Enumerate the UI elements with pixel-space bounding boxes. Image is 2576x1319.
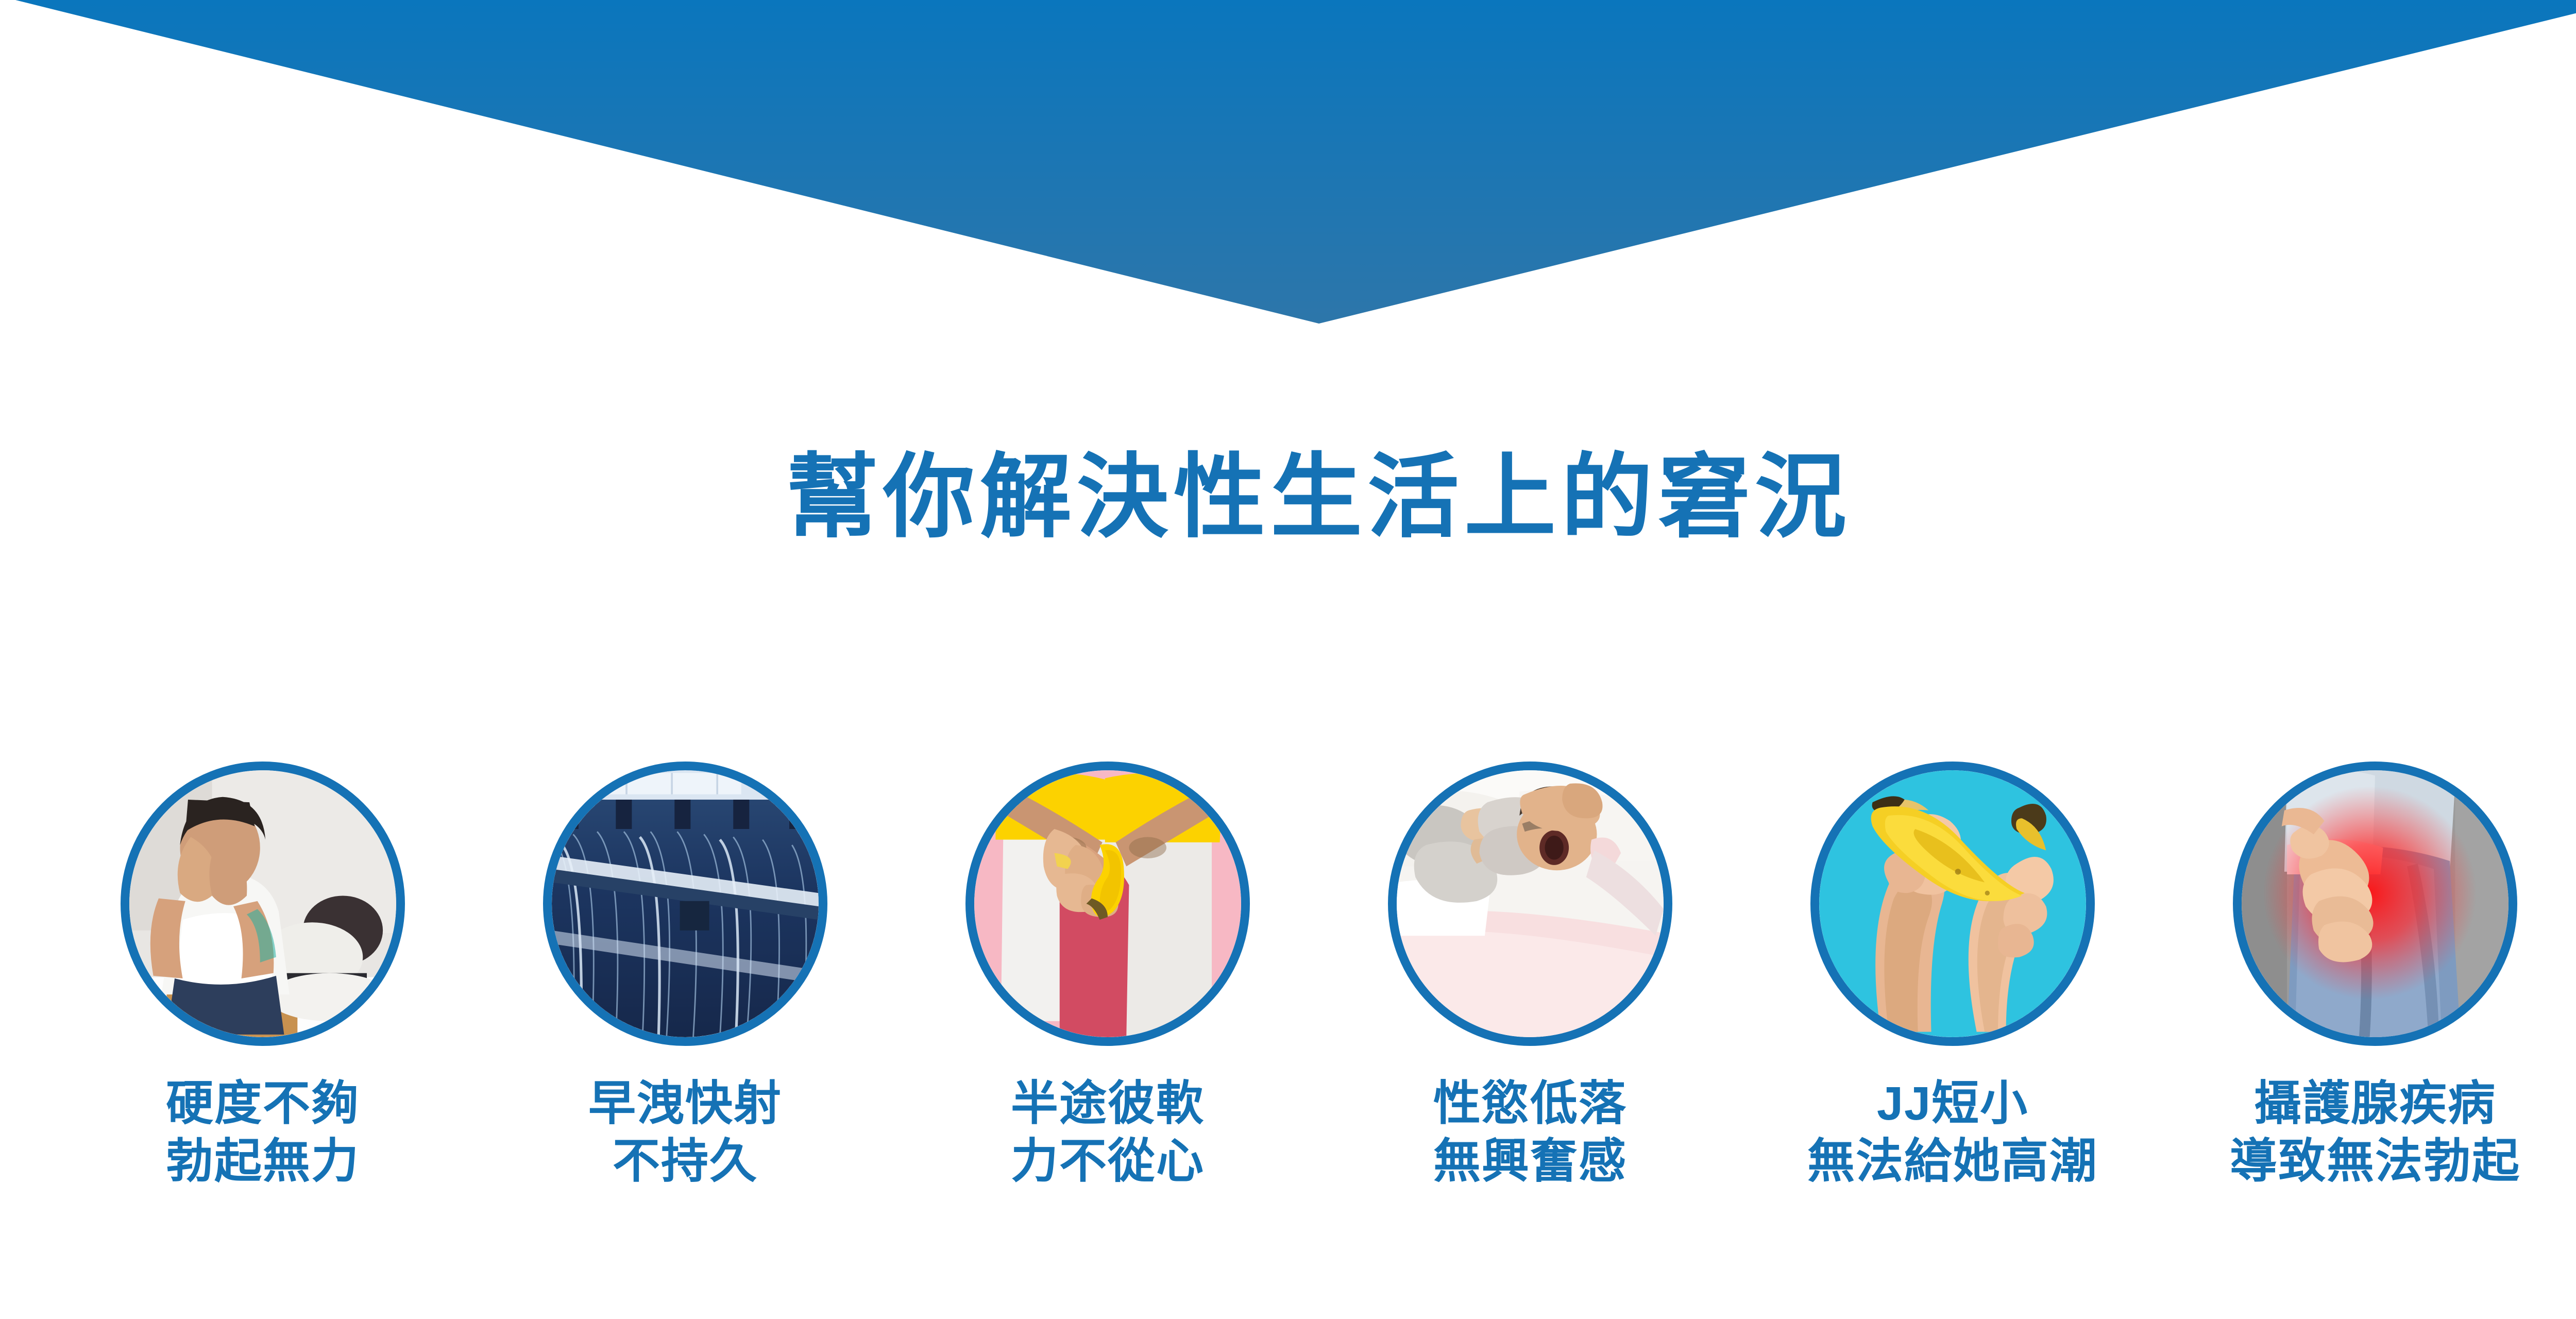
page-title: 幫你解決性生活上的窘況: [0, 449, 2576, 546]
symptom-photo-circle: [965, 762, 1250, 1046]
symptom-caption-line1: 硬度不夠: [166, 1077, 360, 1130]
symptom-caption-line1: 攝護腺疾病: [2254, 1077, 2496, 1130]
water-flowing-over-weir-photo: [552, 770, 819, 1037]
symptom-caption: 攝護腺疾病 導致無法勃起: [2230, 1075, 2520, 1190]
hands-holding-banana-photo: [1819, 770, 2086, 1037]
symptom-caption-line1: 半途彼軟: [1011, 1077, 1205, 1130]
list-item[interactable]: 硬度不夠 勃起無力: [121, 762, 405, 1190]
man-holding-drooping-banana-photo: [974, 770, 1241, 1037]
symptom-photo-circle: [1388, 762, 1672, 1046]
symptom-caption: 早洩快射 不持久: [588, 1075, 782, 1190]
man-sitting-on-bed-covering-face-photo: [129, 770, 396, 1037]
symptom-caption-line1: 早洩快射: [588, 1077, 782, 1130]
symptom-photo-circle: [2233, 762, 2517, 1046]
symptom-caption-line2: 不持久: [588, 1132, 782, 1190]
symptom-caption-line2: 無興奮感: [1433, 1132, 1627, 1190]
list-item[interactable]: 半途彼軟 力不從心: [965, 762, 1250, 1190]
symptom-caption-line1: 性慾低落: [1433, 1077, 1627, 1130]
symptom-caption-line2: 勃起無力: [166, 1132, 360, 1190]
symptom-caption: 硬度不夠 勃起無力: [166, 1075, 360, 1190]
banner-triangle-icon: [0, 0, 2576, 330]
symptom-caption-line2: 導致無法勃起: [2230, 1132, 2520, 1190]
symptom-photo-circle: [121, 762, 405, 1046]
list-item[interactable]: 性慾低落 無興奮感: [1388, 762, 1672, 1190]
symptom-caption: JJ短小 無法給她高潮: [1807, 1075, 2098, 1190]
symptom-photo-circle: [543, 762, 827, 1046]
symptom-photo-circle: [1810, 762, 2095, 1046]
symptom-list: 硬度不夠 勃起無力: [0, 762, 2576, 1225]
list-item[interactable]: JJ短小 無法給她高潮: [1810, 762, 2095, 1190]
symptom-caption-line1: JJ短小: [1877, 1077, 2028, 1130]
person-holding-groin-in-pain-photo: [2242, 770, 2509, 1037]
list-item[interactable]: 攝護腺疾病 導致無法勃起: [2233, 762, 2517, 1190]
symptom-caption: 性慾低落 無興奮感: [1433, 1075, 1627, 1190]
list-item[interactable]: 早洩快射 不持久: [543, 762, 827, 1190]
symptom-caption-line2: 力不從心: [1011, 1132, 1205, 1190]
symptom-caption: 半途彼軟 力不從心: [1011, 1075, 1205, 1190]
top-banner: [0, 0, 2576, 330]
symptom-caption-line2: 無法給她高潮: [1807, 1132, 2098, 1190]
man-yawning-in-bed-photo: [1397, 770, 1664, 1037]
